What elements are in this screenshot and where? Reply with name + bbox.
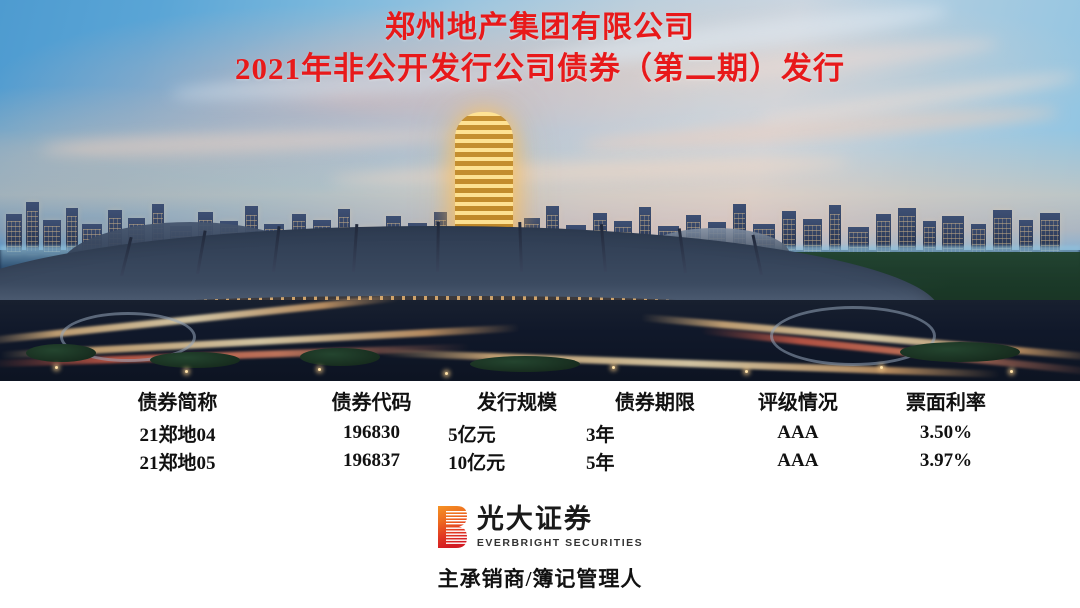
- cell-rating: AAA: [724, 419, 872, 447]
- table-row: 21郑地05 196837 10亿元 5年 AAA 3.97%: [60, 447, 1020, 475]
- bond-issuance-poster: 郑州地产集团有限公司 2021年非公开发行公司债券（第二期）发行 债券简称 债券…: [0, 0, 1080, 608]
- foliage: [150, 352, 240, 368]
- cell-bond-term: 5年: [586, 447, 724, 475]
- poster-footer: 光大证券 EVERBRIGHT SECURITIES 主承销商/簿记管理人: [0, 501, 1080, 608]
- street-light: [880, 366, 883, 369]
- column-header-issue-scale: 发行规模: [448, 381, 586, 419]
- column-header-coupon-rate: 票面利率: [872, 381, 1020, 419]
- cell-coupon-rate: 3.97%: [872, 447, 1020, 475]
- street-light: [185, 370, 188, 373]
- cell-issue-scale: 5亿元: [448, 419, 586, 447]
- street-light: [1010, 370, 1013, 373]
- bond-issuance-title: 2021年非公开发行公司债券（第二期）发行: [0, 48, 1080, 90]
- cell-bond-term: 3年: [586, 419, 724, 447]
- cell-issue-scale: 10亿元: [448, 447, 586, 475]
- foliage: [900, 342, 1020, 362]
- column-header-bond-name: 债券简称: [60, 381, 295, 419]
- poster-title: 郑州地产集团有限公司 2021年非公开发行公司债券（第二期）发行: [0, 8, 1080, 90]
- cell-bond-name: 21郑地04: [60, 419, 295, 447]
- table-row: 21郑地04 196830 5亿元 3年 AAA 3.50%: [60, 419, 1020, 447]
- hero-photo: 郑州地产集团有限公司 2021年非公开发行公司债券（第二期）发行: [0, 0, 1080, 381]
- cell-coupon-rate: 3.50%: [872, 419, 1020, 447]
- cell-bond-code: 196830: [295, 419, 448, 447]
- table-header-row: 债券简称 债券代码 发行规模 债券期限 评级情况 票面利率: [60, 381, 1020, 419]
- underwriter-name-en: EVERBRIGHT SECURITIES: [477, 538, 643, 549]
- column-header-bond-code: 债券代码: [295, 381, 448, 419]
- underwriter-logo: 光大证券 EVERBRIGHT SECURITIES: [0, 501, 1080, 553]
- street-light: [745, 370, 748, 373]
- column-header-bond-term: 债券期限: [586, 381, 724, 419]
- underwriter-name-cn: 光大证券: [477, 506, 593, 533]
- foliage: [470, 356, 580, 372]
- underwriter-logo-text: 光大证券 EVERBRIGHT SECURITIES: [477, 506, 643, 549]
- column-header-rating: 评级情况: [724, 381, 872, 419]
- street-light: [55, 366, 58, 369]
- bond-table: 债券简称 债券代码 发行规模 债券期限 评级情况 票面利率 21郑地04 196…: [60, 381, 1020, 475]
- underwriter-role-label: 主承销商/簿记管理人: [0, 563, 1080, 593]
- company-name-title: 郑州地产集团有限公司: [0, 8, 1080, 48]
- foliage: [26, 344, 96, 362]
- street-light: [318, 368, 321, 371]
- cell-bond-name: 21郑地05: [60, 447, 295, 475]
- cell-bond-code: 196837: [295, 447, 448, 475]
- cell-rating: AAA: [724, 447, 872, 475]
- street-light: [612, 366, 615, 369]
- everbright-logo-icon: [437, 506, 467, 548]
- street-light: [445, 372, 448, 375]
- bond-table-area: 债券简称 债券代码 发行规模 债券期限 评级情况 票面利率 21郑地04 196…: [0, 381, 1080, 501]
- foliage: [300, 348, 380, 366]
